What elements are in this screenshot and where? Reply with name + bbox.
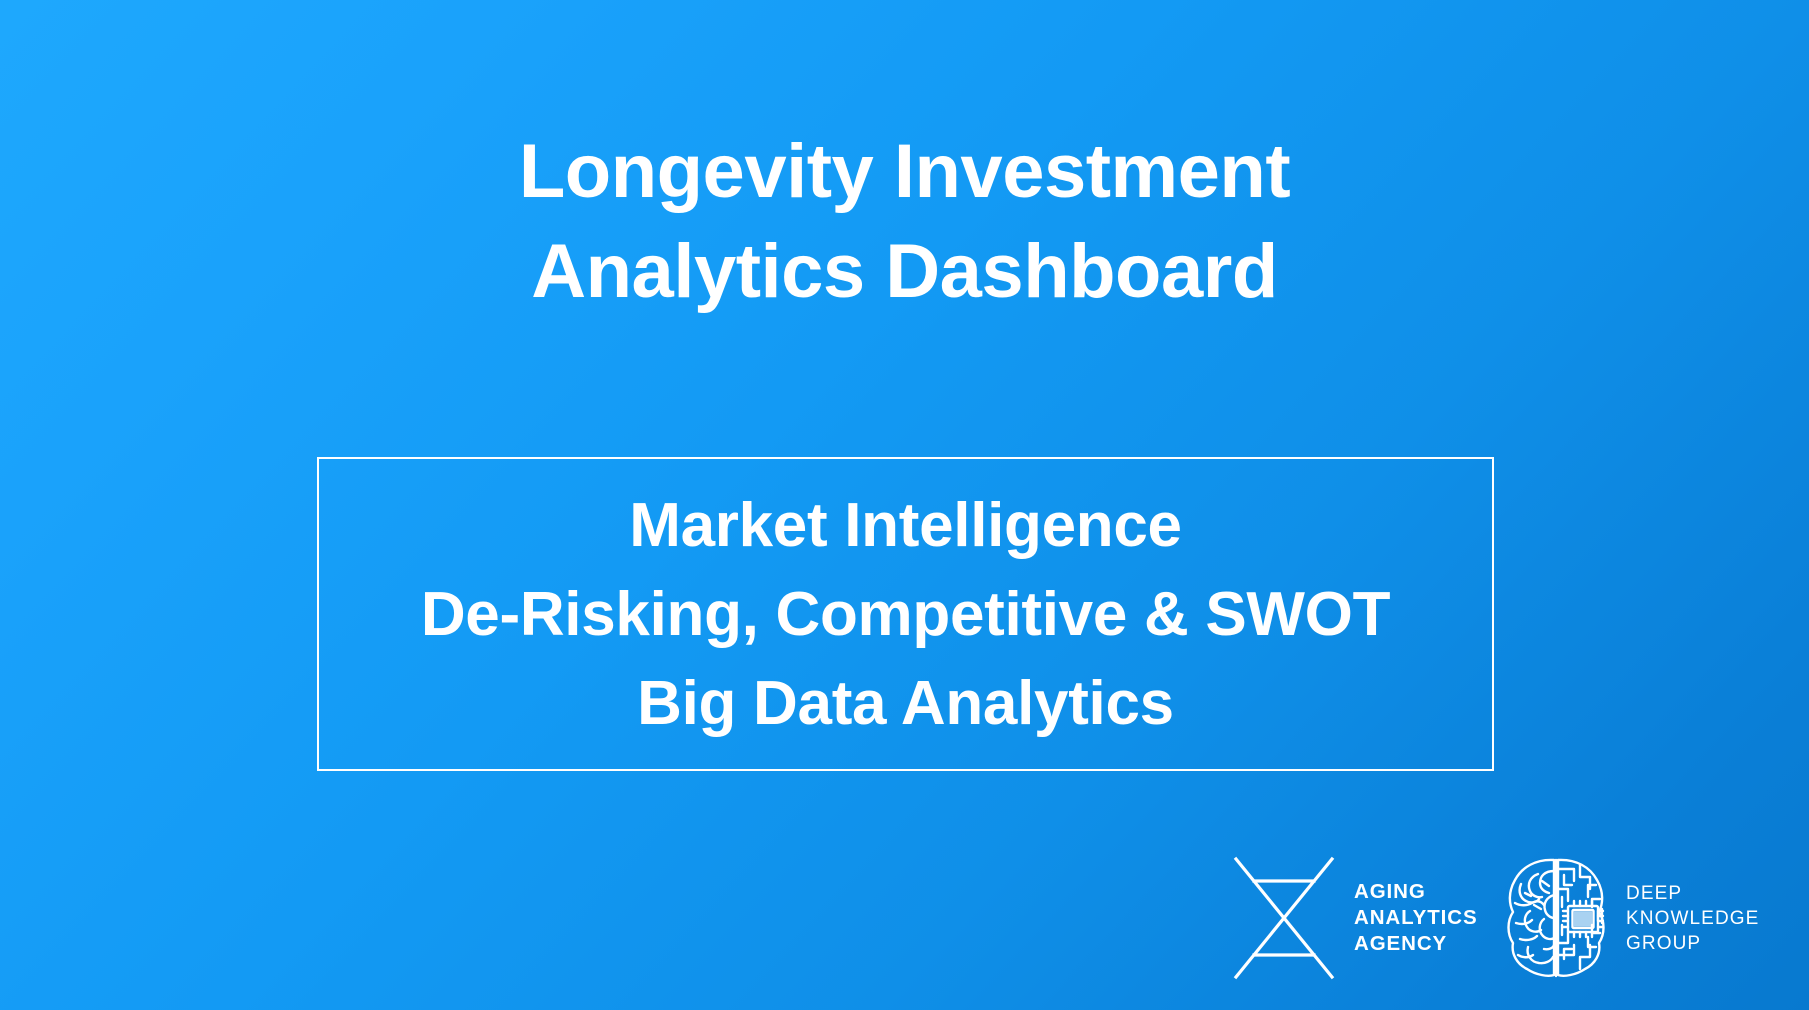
logo-dkg-line-2: KNOWLEDGE [1626,906,1759,931]
subtitle-line-3: Big Data Analytics [637,659,1174,748]
logo-aaa-text: AGING ANALYTICS AGENCY [1354,879,1478,957]
logo-aaa-line-2: ANALYTICS [1354,905,1478,931]
logo-aaa-line-3: AGENCY [1354,931,1478,957]
logo-dkg-line-1: DEEP [1626,881,1759,906]
logo-aging-analytics-agency: AGING ANALYTICS AGENCY [1228,848,1478,988]
page-title-line-2: Analytics Dashboard [0,222,1809,322]
page-title: Longevity Investment Analytics Dashboard [0,122,1809,322]
page-title-line-1: Longevity Investment [0,122,1809,222]
brain-circuit-icon [1500,851,1612,985]
logo-strip: AGING ANALYTICS AGENCY [1228,848,1788,988]
presentation-slide: Longevity Investment Analytics Dashboard… [0,0,1809,1010]
subtitle-box: Market Intelligence De-Risking, Competit… [317,457,1494,771]
logo-dkg-line-3: GROUP [1626,931,1759,956]
subtitle-line-1: Market Intelligence [629,481,1181,570]
hourglass-x-icon [1228,853,1340,983]
logo-deep-knowledge-group: DEEP KNOWLEDGE GROUP [1500,848,1759,988]
logo-aaa-line-1: AGING [1354,879,1478,905]
logo-dkg-text: DEEP KNOWLEDGE GROUP [1626,881,1759,956]
subtitle-line-2: De-Risking, Competitive & SWOT [421,570,1390,659]
